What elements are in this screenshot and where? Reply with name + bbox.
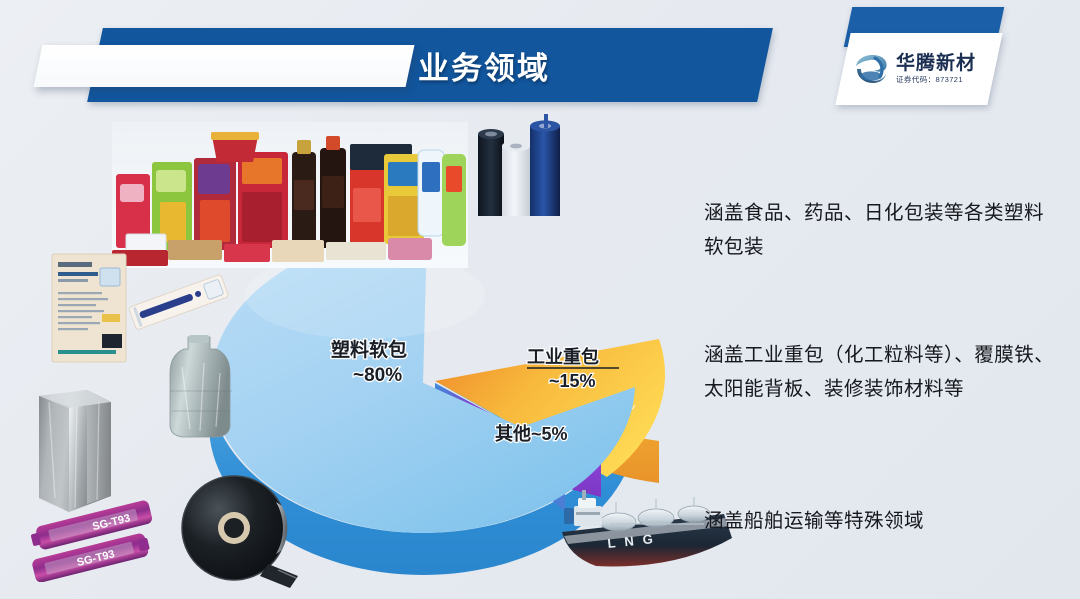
food-packaging-collage — [112, 122, 468, 268]
logo-company-name: 华腾新材 — [896, 54, 976, 73]
pie-label-plastic-name: 塑料软包 — [331, 338, 407, 361]
page-title: 业务领域 — [418, 40, 718, 90]
note-shipping-special: 涵盖船舶运输等特殊领域 — [704, 504, 1054, 538]
note-industrial-packaging: 涵盖工业重包（化工粒料等）、覆膜铁、太阳能背板、装修装饰材料等 — [704, 338, 1064, 406]
silver-liner-bag — [160, 333, 242, 441]
sterile-instrument-pack — [128, 268, 230, 338]
company-logo-card: 华腾新材 证券代码：873721 — [835, 33, 1002, 105]
swirl-logo-icon — [851, 49, 891, 89]
metallized-film-roll — [172, 472, 304, 592]
pie-label-other: 其他~5% — [495, 423, 568, 444]
aluminum-foil-bag — [25, 388, 121, 516]
medical-packaging-pouch — [50, 252, 128, 364]
header-white-accent — [34, 45, 415, 87]
plastic-film-rolls — [468, 108, 610, 228]
slide-canvas: 业务领域 — [0, 0, 1080, 599]
logo-stock-code: 证券代码：873721 — [896, 76, 976, 84]
pie-label-industrial-name: 工业重包 — [527, 346, 599, 367]
pie-label-industrial-value: ~15% — [549, 371, 596, 391]
sealant-cartridge-tubes: SG-T93 SG-T93 — [30, 498, 166, 582]
pie-label-plastic-value: ~80% — [353, 365, 402, 386]
note-plastic-packaging: 涵盖食品、药品、日化包装等各类塑料软包装 — [704, 196, 1054, 264]
